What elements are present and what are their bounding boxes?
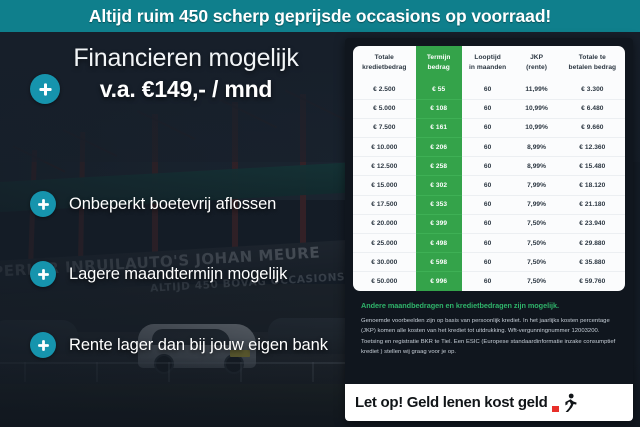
- table-header-row: Totale kredietbedrag Termijn bedrag Loop…: [353, 46, 625, 80]
- column-header-term-amount: Termijn bedrag: [416, 46, 462, 80]
- financing-card: Totale kredietbedrag Termijn bedrag Loop…: [345, 38, 633, 421]
- cell-duration: 60: [462, 138, 514, 157]
- cell-total-credit: € 50.000: [353, 272, 416, 291]
- cell-duration: 60: [462, 176, 514, 195]
- feature-bullet-label: Lagere maandtermijn mogelijk: [69, 265, 287, 284]
- cell-term-amount: € 399: [416, 214, 462, 233]
- disclaimer-title: Andere maandbedragen en kredietbedragen …: [361, 301, 617, 311]
- feature-bullet-1: Onbeperkt boetevrij aflossen: [30, 191, 276, 217]
- cell-total-credit: € 20.000: [353, 214, 416, 233]
- cell-total-payable: € 6.480: [560, 99, 625, 118]
- running-man-logo: [552, 393, 577, 413]
- rates-table: Totale kredietbedrag Termijn bedrag Loop…: [353, 46, 625, 291]
- cell-jkp: 8,99%: [513, 138, 559, 157]
- table-row: € 20.000€ 399607,50%€ 23.940: [353, 214, 625, 233]
- cell-duration: 60: [462, 195, 514, 214]
- red-block-icon: [552, 406, 559, 412]
- cell-total-payable: € 35.880: [560, 253, 625, 272]
- table-row: € 12.500€ 258608,99%€ 15.480: [353, 157, 625, 176]
- cell-term-amount: € 258: [416, 157, 462, 176]
- running-man-icon: [560, 393, 577, 413]
- headline-block: Financieren mogelijk v.a. €149,- / mnd: [30, 44, 342, 103]
- banner-text: Altijd ruim 450 scherp geprijsde occasio…: [89, 6, 551, 27]
- column-header-jkp: JKP (rente): [513, 46, 559, 80]
- cell-jkp: 7,50%: [513, 234, 559, 253]
- column-header-total-payable: Totale te betalen bedrag: [560, 46, 625, 80]
- rates-table-body: € 2.500€ 556011,99%€ 3.300€ 5.000€ 10860…: [353, 80, 625, 291]
- plus-icon: [30, 332, 56, 358]
- cell-term-amount: € 353: [416, 195, 462, 214]
- cell-term-amount: € 598: [416, 253, 462, 272]
- cell-term-amount: € 302: [416, 176, 462, 195]
- cell-jkp: 10,99%: [513, 118, 559, 137]
- cell-term-amount: € 996: [416, 272, 462, 291]
- cell-term-amount: € 498: [416, 234, 462, 253]
- cell-term-amount: € 161: [416, 118, 462, 137]
- cell-duration: 60: [462, 157, 514, 176]
- cell-duration: 60: [462, 118, 514, 137]
- cell-jkp: 7,50%: [513, 253, 559, 272]
- cell-term-amount: € 108: [416, 99, 462, 118]
- cell-total-credit: € 12.500: [353, 157, 416, 176]
- cell-total-credit: € 5.000: [353, 99, 416, 118]
- cell-duration: 60: [462, 214, 514, 233]
- cell-total-credit: € 17.500: [353, 195, 416, 214]
- cell-jkp: 7,50%: [513, 272, 559, 291]
- rates-table-head: Totale kredietbedrag Termijn bedrag Loop…: [353, 46, 625, 80]
- table-row: € 50.000€ 996607,50%€ 59.760: [353, 272, 625, 291]
- cell-jkp: 11,99%: [513, 80, 559, 99]
- cell-total-payable: € 29.880: [560, 234, 625, 253]
- feature-bullet-3: Rente lager dan bij jouw eigen bank: [30, 332, 328, 358]
- cell-jkp: 8,99%: [513, 157, 559, 176]
- cell-term-amount: € 55: [416, 80, 462, 99]
- disclaimer-body: Genoemde voorbeelden zijn op basis van p…: [361, 316, 617, 357]
- column-header-total-credit: Totale kredietbedrag: [353, 46, 416, 80]
- loan-warning-text: Let op! Geld lenen kost geld: [355, 394, 547, 411]
- cell-total-payable: € 3.300: [560, 80, 625, 99]
- headline-line-2: v.a. €149,- / mnd: [30, 75, 342, 104]
- cell-duration: 60: [462, 99, 514, 118]
- cell-total-payable: € 15.480: [560, 157, 625, 176]
- cell-duration: 60: [462, 253, 514, 272]
- headline-line-1: Financieren mogelijk: [30, 44, 342, 73]
- cell-total-credit: € 25.000: [353, 234, 416, 253]
- cell-total-credit: € 30.000: [353, 253, 416, 272]
- feature-bullet-label: Rente lager dan bij jouw eigen bank: [69, 336, 328, 355]
- cell-total-payable: € 12.360: [560, 138, 625, 157]
- rates-table-container: Totale kredietbedrag Termijn bedrag Loop…: [353, 46, 625, 291]
- table-row: € 7.500€ 1616010,99%€ 9.660: [353, 118, 625, 137]
- table-row: € 10.000€ 206608,99%€ 12.360: [353, 138, 625, 157]
- cell-total-payable: € 21.180: [560, 195, 625, 214]
- cell-total-payable: € 23.940: [560, 214, 625, 233]
- cell-jkp: 7,99%: [513, 176, 559, 195]
- cell-duration: 60: [462, 272, 514, 291]
- cell-total-payable: € 9.660: [560, 118, 625, 137]
- column-header-duration: Looptijd in maanden: [462, 46, 514, 80]
- cell-total-payable: € 18.120: [560, 176, 625, 195]
- top-banner: Altijd ruim 450 scherp geprijsde occasio…: [0, 0, 640, 32]
- cell-total-credit: € 7.500: [353, 118, 416, 137]
- table-row: € 5.000€ 1086010,99%€ 6.480: [353, 99, 625, 118]
- cell-total-credit: € 15.000: [353, 176, 416, 195]
- disclaimer-note: Andere maandbedragen en kredietbedragen …: [353, 291, 625, 357]
- cell-term-amount: € 206: [416, 138, 462, 157]
- feature-bullet-2: Lagere maandtermijn mogelijk: [30, 261, 287, 287]
- plus-icon: [30, 261, 56, 287]
- plus-icon: [30, 191, 56, 217]
- loan-warning-bar: Let op! Geld lenen kost geld: [345, 384, 633, 421]
- table-row: € 2.500€ 556011,99%€ 3.300: [353, 80, 625, 99]
- cell-total-payable: € 59.760: [560, 272, 625, 291]
- cell-jkp: 7,99%: [513, 195, 559, 214]
- table-row: € 30.000€ 598607,50%€ 35.880: [353, 253, 625, 272]
- table-row: € 25.000€ 498607,50%€ 29.880: [353, 234, 625, 253]
- cell-total-credit: € 2.500: [353, 80, 416, 99]
- table-row: € 17.500€ 353607,99%€ 21.180: [353, 195, 625, 214]
- cell-jkp: 10,99%: [513, 99, 559, 118]
- feature-bullet-label: Onbeperkt boetevrij aflossen: [69, 195, 276, 214]
- left-content: Financieren mogelijk v.a. €149,- / mnd O…: [0, 32, 350, 427]
- cell-duration: 60: [462, 80, 514, 99]
- cell-jkp: 7,50%: [513, 214, 559, 233]
- cell-duration: 60: [462, 234, 514, 253]
- table-row: € 15.000€ 302607,99%€ 18.120: [353, 176, 625, 195]
- cell-total-credit: € 10.000: [353, 138, 416, 157]
